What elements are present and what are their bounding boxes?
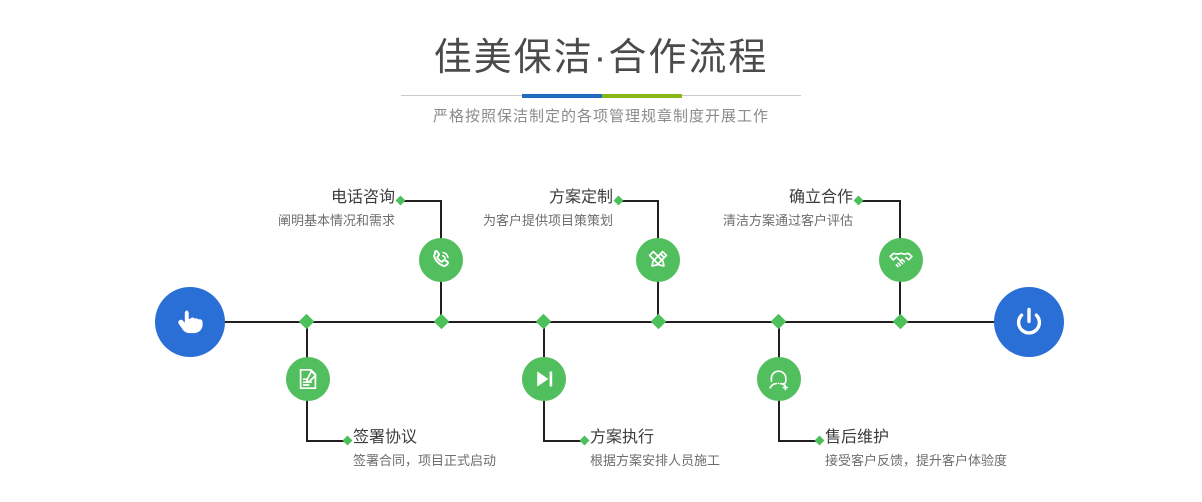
axis-node-c	[771, 314, 787, 330]
phone-call-icon	[428, 247, 454, 273]
step-label-4: 方案执行 根据方案安排人员施工	[590, 428, 850, 470]
step-label-3: 方案定制 为客户提供项目策策划	[370, 188, 613, 230]
step-label-6-desc: 接受客户反馈，提升客户体验度	[825, 452, 1125, 470]
step-node-3[interactable]	[636, 238, 680, 282]
step-node-4[interactable]	[522, 357, 566, 401]
customer-service-add-icon	[766, 366, 792, 392]
flow-start-node[interactable]	[155, 287, 225, 357]
divider-blue-segment	[522, 94, 602, 98]
title-divider	[401, 94, 801, 98]
axis-node-a	[299, 314, 315, 330]
step-label-1-title: 电话咨询	[150, 188, 395, 208]
step-label-2: 签署协议 签署合同，项目正式启动	[353, 428, 613, 470]
hand-pointing-icon	[170, 302, 210, 342]
step-node-6[interactable]	[757, 357, 801, 401]
document-pen-icon	[295, 366, 321, 392]
step-node-2[interactable]	[286, 357, 330, 401]
page-subtitle: 严格按照保洁制定的各项管理规章制度开展工作	[0, 106, 1202, 128]
flow-end-node[interactable]	[994, 287, 1064, 357]
connector-step-2-horizontal	[306, 440, 346, 442]
page-title: 佳美保洁·合作流程	[0, 36, 1202, 80]
step-label-1: 电话咨询 阐明基本情况和需求	[150, 188, 395, 230]
axis-node-step-5	[893, 314, 909, 330]
step-label-5-desc: 清洁方案通过客户评估	[610, 212, 853, 230]
divider-green-segment	[602, 94, 682, 98]
axis-node-b	[536, 314, 552, 330]
step-label-3-title: 方案定制	[370, 188, 613, 208]
step-label-5: 确立合作 清洁方案通过客户评估	[610, 188, 853, 230]
process-flow-infographic: 佳美保洁·合作流程 严格按照保洁制定的各项管理规章制度开展工作	[0, 0, 1202, 502]
pencil-pen-icon	[645, 247, 671, 273]
step-label-5-title: 确立合作	[610, 188, 853, 208]
step-node-5[interactable]	[879, 238, 923, 282]
step-label-4-desc: 根据方案安排人员施工	[590, 452, 850, 470]
step-label-2-title: 签署协议	[353, 428, 613, 448]
power-icon	[1009, 302, 1049, 342]
handshake-icon	[887, 246, 915, 274]
step-label-3-desc: 为客户提供项目策策划	[370, 212, 613, 230]
connector-step-5-horizontal	[859, 200, 901, 202]
connector-dot-step-5	[854, 196, 864, 206]
step-label-1-desc: 阐明基本情况和需求	[150, 212, 395, 230]
connector-dot-step-2	[343, 436, 353, 446]
axis-node-step-1	[434, 314, 450, 330]
step-label-6: 售后维护 接受客户反馈，提升客户体验度	[825, 428, 1125, 470]
axis-node-step-3	[651, 314, 667, 330]
play-next-icon	[531, 366, 557, 392]
step-label-4-title: 方案执行	[590, 428, 850, 448]
step-label-6-title: 售后维护	[825, 428, 1125, 448]
step-label-2-desc: 签署合同，项目正式启动	[353, 452, 613, 470]
step-node-1[interactable]	[419, 238, 463, 282]
